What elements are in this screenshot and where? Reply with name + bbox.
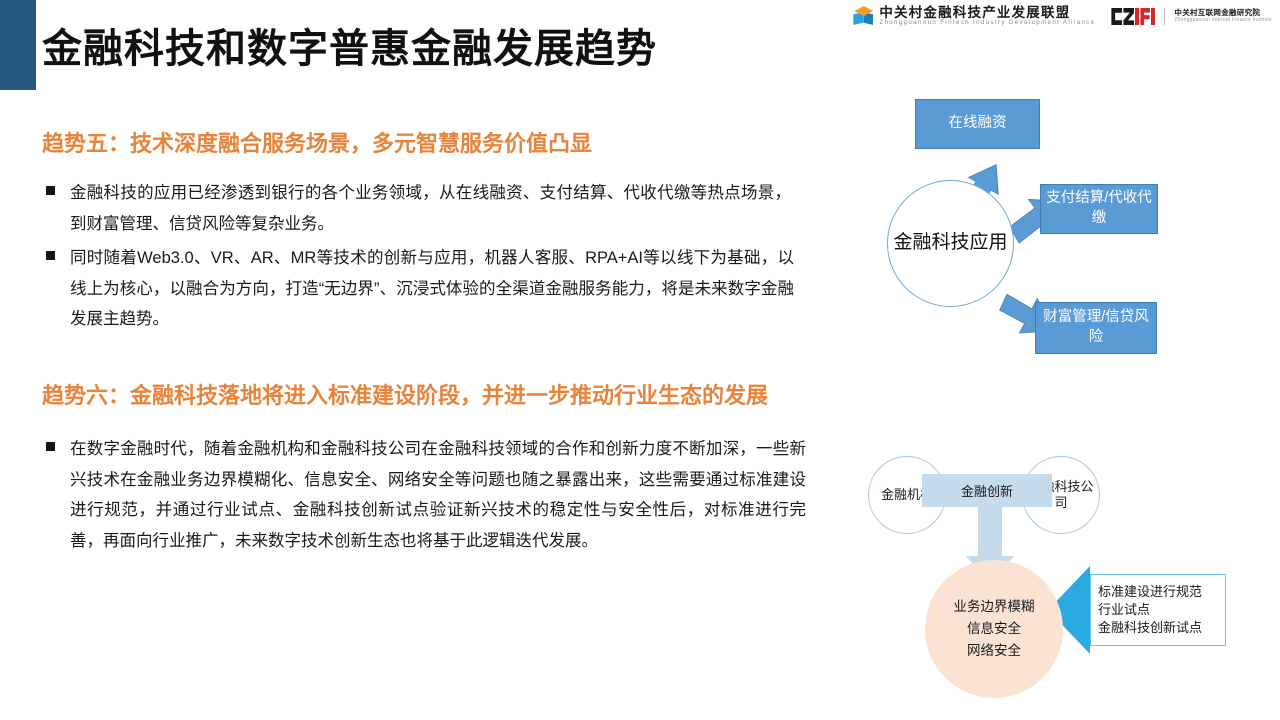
bullet-square-icon: [46, 251, 55, 260]
node-financial-innovation-label: 金融创新: [961, 481, 1013, 500]
bullet-text: 在数字金融时代，随着金融机构和金融科技公司在金融科技领域的合作和创新力度不断加深…: [70, 434, 806, 556]
node-online-financing-label: 在线融资: [949, 114, 1007, 134]
callout-standards-measures: 标准建设进行规范 行业试点 金融科技创新试点: [1090, 574, 1226, 646]
section-heading-trend-six: 趋势六：金融科技落地将进入标准建设阶段，并进一步推动行业生态的发展: [42, 378, 768, 410]
node-wealth-management: 财富管理/信贷风险: [1035, 302, 1157, 354]
zgc-alliance-logo: 中关村金融科技产业发展联盟 Zhongguanoun Fintech Indus…: [853, 6, 1095, 27]
node-payment-settlement: 支付结算/代收代缴: [1040, 184, 1158, 234]
title-accent-bar: [0, 0, 36, 90]
fintech-center-label: 金融科技应用: [893, 231, 1007, 256]
fintech-center-node: 金融科技应用: [887, 180, 1014, 307]
callout-line: 行业试点: [1098, 601, 1225, 619]
section-heading-trend-five: 趋势五：技术深度融合服务场景，多元智慧服务价值凸显: [42, 126, 592, 158]
standards-ecosystem-diagram: 金融机构 金融科技公司 金融创新 业务边界模糊 信息安全 网络安全 标准建设进行…: [862, 448, 1280, 710]
bullet-text: 金融科技的应用已经渗透到银行的各个业务领域，从在线融资、支付结算、代收代缴等热点…: [70, 178, 791, 239]
node-wealth-management-label: 财富管理/信贷风险: [1036, 308, 1156, 347]
czifi-logo: 中关村互联网金融研究院 Zhongguancun Internet Financ…: [1111, 8, 1272, 25]
logo-divider: [1164, 8, 1165, 25]
zgc-logo-name-cn: 中关村金融科技产业发展联盟: [879, 6, 1095, 20]
czifi-logo-name-en: Zhongguancun Internet Finance Institute: [1174, 18, 1272, 24]
bullet-square-icon: [46, 186, 55, 195]
bullet-item: 金融科技的应用已经渗透到银行的各个业务领域，从在线融资、支付结算、代收代缴等热点…: [46, 178, 791, 239]
bullet-square-icon: [46, 442, 55, 451]
risk-outcome-line: 网络安全: [967, 640, 1021, 662]
node-financial-innovation: 金融创新: [922, 474, 1052, 507]
cube-icon: [853, 6, 874, 27]
zgc-logo-name-en: Zhongguanoun Fintech Industry Developmen…: [879, 20, 1095, 27]
bullet-item: 在数字金融时代，随着金融机构和金融科技公司在金融科技领域的合作和创新力度不断加深…: [46, 434, 806, 556]
callout-line: 标准建设进行规范: [1098, 583, 1225, 601]
logo-row: 中关村金融科技产业发展联盟 Zhongguanoun Fintech Indus…: [853, 6, 1272, 27]
czifi-wordmark-icon: [1111, 8, 1155, 25]
callout-line: 金融科技创新试点: [1098, 619, 1225, 637]
slide-root: 金融科技和数字普惠金融发展趋势 中关村金融科技产业发展联盟 Zhongguano…: [0, 0, 1280, 720]
bullet-item: 同时随着Web3.0、VR、AR、MR等技术的创新与应用，机器人客服、RPA+A…: [46, 243, 794, 335]
risk-outcome-line: 业务边界模糊: [954, 596, 1035, 618]
risk-outcome-line: 信息安全: [967, 618, 1021, 640]
fintech-application-diagram: 金融科技应用 在线融资 支付结算/代收代缴 财富管理/信贷风险: [880, 84, 1280, 374]
page-title: 金融科技和数字普惠金融发展趋势: [42, 16, 657, 74]
node-payment-settlement-label: 支付结算/代收代缴: [1041, 189, 1157, 228]
node-risk-outcomes: 业务边界模糊 信息安全 网络安全: [925, 560, 1063, 698]
bullet-text: 同时随着Web3.0、VR、AR、MR等技术的创新与应用，机器人客服、RPA+A…: [70, 243, 794, 335]
node-online-financing: 在线融资: [915, 99, 1040, 149]
